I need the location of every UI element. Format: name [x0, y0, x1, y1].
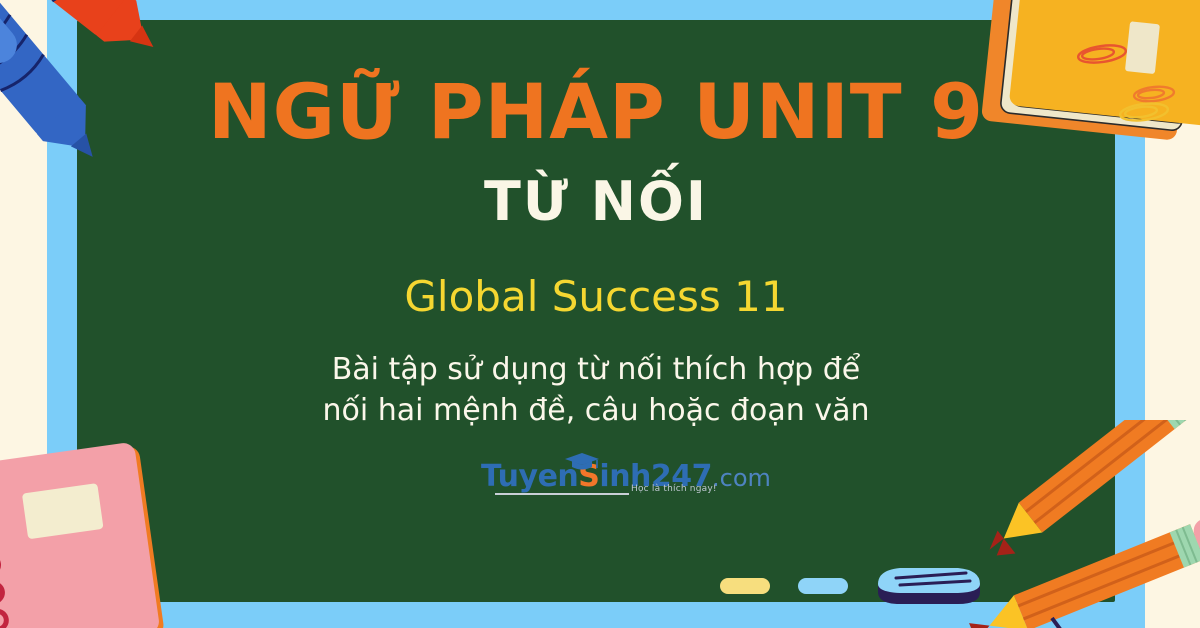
pencils-decoration [960, 420, 1200, 628]
poster-canvas: NGỮ PHÁP UNIT 9 TỪ NỐI Global Success 11… [0, 0, 1200, 628]
folder-decoration [978, 0, 1200, 180]
notebooks-decoration [0, 422, 216, 628]
crayons-decoration [0, 0, 214, 204]
chalk-and-eraser [720, 556, 980, 608]
